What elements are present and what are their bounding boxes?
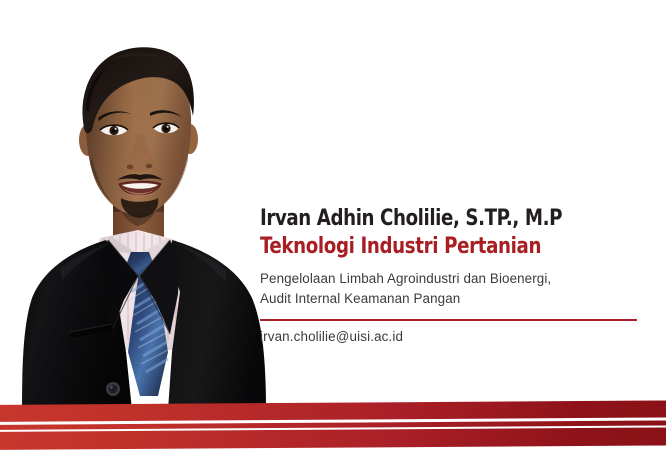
footer-band-top [0, 400, 666, 422]
department-label: Teknologi Industri Pertanian [260, 233, 611, 260]
portrait-illustration [0, 0, 290, 410]
divider-rule [260, 319, 637, 321]
profile-text-block: Irvan Adhin Cholilie, S.TP., M.P Teknolo… [260, 205, 650, 344]
page-title: Irvan Adhin Cholilie, S.TP., M.P [260, 205, 611, 232]
profile-card: Irvan Adhin Cholilie, S.TP., M.P Teknolo… [0, 0, 666, 450]
expertise-line-2: Audit Internal Keamanan Pangan [260, 289, 650, 309]
footer-band-bottom [0, 427, 666, 450]
expertise-line-1: Pengelolaan Limbah Agroindustri dan Bioe… [260, 269, 650, 289]
email-address: irvan.cholilie@uisi.ac.id [260, 329, 650, 344]
expertise-list: Pengelolaan Limbah Agroindustri dan Bioe… [260, 269, 650, 309]
portrait-photo [0, 0, 290, 410]
